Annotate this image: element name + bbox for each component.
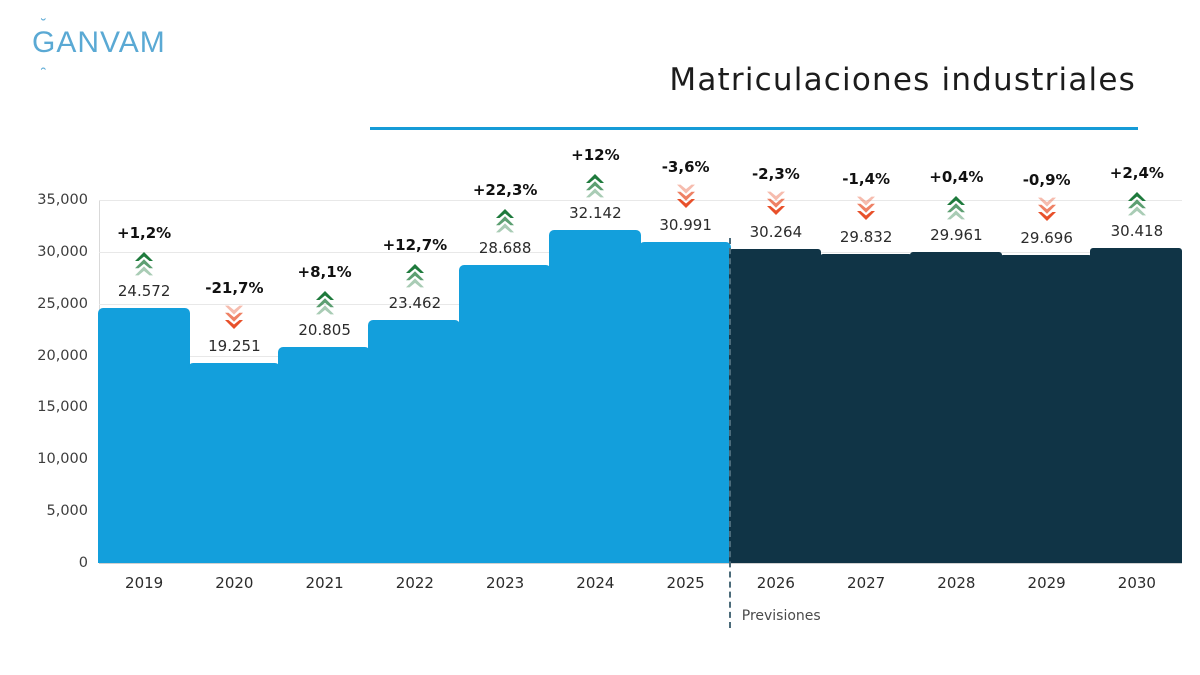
trend-down-icon-2020	[223, 305, 245, 331]
bar-value-label-2021: 20.805	[265, 321, 385, 339]
bar-value-label-2022: 23.462	[355, 294, 475, 312]
logo-breve-top-icon: ˘	[41, 17, 47, 32]
bar-2026[interactable]	[729, 249, 821, 563]
trend-up-icon-2022	[404, 262, 426, 288]
x-axis-line	[99, 563, 1182, 564]
bar-2024[interactable]	[549, 230, 641, 563]
bar-2028[interactable]	[910, 252, 1002, 563]
logo-breve-bottom-icon: ˘	[41, 56, 47, 71]
bar-value-label-2020: 19.251	[174, 337, 294, 355]
bar-2020[interactable]	[188, 363, 280, 563]
forecast-divider-label: Previsiones	[742, 608, 821, 624]
logo-wordmark: ANVAM	[56, 26, 165, 60]
trend-down-icon-2025	[675, 184, 697, 210]
bar-2029[interactable]	[1000, 255, 1092, 563]
ganvam-logo: ˘ G ˘ ANVAM	[32, 26, 166, 60]
change-label-2020: -21,7%	[174, 279, 294, 297]
x-axis-label-2030: 2030	[1077, 574, 1197, 592]
trend-down-icon-2027	[855, 196, 877, 222]
gridline	[99, 200, 1182, 201]
trend-up-icon-2023	[494, 207, 516, 233]
forecast-divider	[729, 238, 731, 628]
title-underline-rule	[370, 127, 1138, 130]
logo-g-glyph: ˘ G ˘	[32, 26, 56, 60]
change-label-2023: +22,3%	[445, 181, 565, 199]
y-axis-tick-label: 0	[79, 555, 88, 571]
trend-up-icon-2021	[314, 289, 336, 315]
trend-up-icon-2030	[1126, 190, 1148, 216]
bar-2021[interactable]	[278, 347, 370, 563]
bar-2027[interactable]	[820, 254, 912, 563]
trend-down-icon-2026	[765, 191, 787, 217]
change-label-2021: +8,1%	[265, 263, 385, 281]
bar-2030[interactable]	[1090, 248, 1182, 563]
change-label-2019: +1,2%	[84, 224, 204, 242]
trend-down-icon-2029	[1036, 197, 1058, 223]
trend-up-icon-2024	[584, 172, 606, 198]
bar-value-label-2030: 30.418	[1077, 222, 1197, 240]
trend-up-icon-2019	[133, 250, 155, 276]
page-title: Matriculaciones industriales	[669, 62, 1136, 98]
change-label-2030: +2,4%	[1077, 164, 1197, 182]
y-axis-tick-label: 30,000	[37, 244, 88, 260]
bar-value-label-2023: 28.688	[445, 239, 565, 257]
plot-area	[99, 200, 1182, 563]
y-axis-tick-label: 20,000	[37, 348, 88, 364]
y-axis-tick-label: 5,000	[46, 503, 88, 519]
y-axis-tick-label: 25,000	[37, 296, 88, 312]
trend-up-icon-2028	[945, 194, 967, 220]
slide-canvas: ˘ G ˘ ANVAM Matriculaciones industriales…	[0, 0, 1200, 675]
y-axis-tick-label: 10,000	[37, 451, 88, 467]
y-axis-tick-label: 35,000	[37, 192, 88, 208]
bar-2025[interactable]	[639, 242, 731, 563]
bar-2022[interactable]	[368, 320, 460, 563]
y-axis-tick-label: 15,000	[37, 399, 88, 415]
